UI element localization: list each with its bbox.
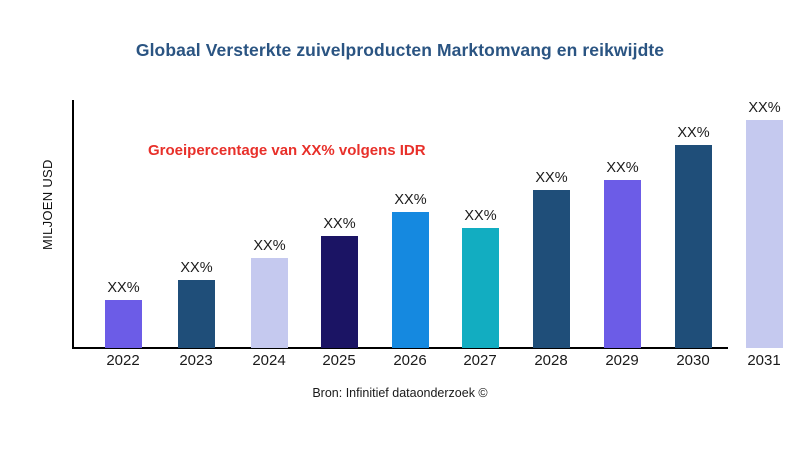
- bar-value-label-2024: XX%: [237, 238, 302, 254]
- chart-canvas: Globaal Versterkte zuivelproducten Markt…: [0, 0, 800, 450]
- bar-rect-2024: [251, 258, 288, 348]
- bar-2027[interactable]: XX%: [462, 228, 499, 348]
- bar-value-label-2026: XX%: [378, 192, 443, 208]
- bar-2025[interactable]: XX%: [321, 236, 358, 348]
- bar-2023[interactable]: XX%: [178, 280, 215, 348]
- bar-2030[interactable]: XX%: [675, 145, 712, 348]
- bar-rect-2022: [105, 300, 142, 348]
- bar-value-label-2027: XX%: [448, 208, 513, 224]
- growth-rate-annotation: Groeipercentage van XX% volgens IDR: [148, 142, 426, 159]
- bar-2024[interactable]: XX%: [251, 258, 288, 348]
- bar-rect-2031: [746, 120, 783, 348]
- bar-value-label-2028: XX%: [519, 170, 584, 186]
- x-tick-label-2031: 2031: [731, 352, 797, 369]
- bar-2031[interactable]: XX%: [746, 120, 783, 348]
- x-tick-label-2029: 2029: [589, 352, 655, 369]
- bar-rect-2027: [462, 228, 499, 348]
- bar-value-label-2025: XX%: [307, 216, 372, 232]
- bar-value-label-2031: XX%: [732, 100, 797, 116]
- x-tick-label-2026: 2026: [377, 352, 443, 369]
- bar-value-label-2023: XX%: [164, 260, 229, 276]
- bar-value-label-2022: XX%: [91, 280, 156, 296]
- bar-2026[interactable]: XX%: [392, 212, 429, 348]
- x-tick-label-2023: 2023: [163, 352, 229, 369]
- bar-2022[interactable]: XX%: [105, 300, 142, 348]
- x-tick-label-2025: 2025: [306, 352, 372, 369]
- x-tick-label-2028: 2028: [518, 352, 584, 369]
- bar-2028[interactable]: XX%: [533, 190, 570, 348]
- bar-value-label-2030: XX%: [661, 125, 726, 141]
- bar-rect-2030: [675, 145, 712, 348]
- x-tick-label-2030: 2030: [660, 352, 726, 369]
- x-tick-label-2024: 2024: [236, 352, 302, 369]
- bar-2029[interactable]: XX%: [604, 180, 641, 348]
- source-note: Bron: Infinitief dataonderzoek ©: [0, 386, 800, 400]
- bar-rect-2025: [321, 236, 358, 348]
- bar-rect-2026: [392, 212, 429, 348]
- x-tick-label-2027: 2027: [447, 352, 513, 369]
- bar-rect-2023: [178, 280, 215, 348]
- x-tick-label-2022: 2022: [90, 352, 156, 369]
- bar-value-label-2029: XX%: [590, 160, 655, 176]
- bar-series: XX%XX%XX%XX%XX%XX%XX%XX%XX%XX%: [0, 0, 800, 450]
- bar-rect-2029: [604, 180, 641, 348]
- bar-rect-2028: [533, 190, 570, 348]
